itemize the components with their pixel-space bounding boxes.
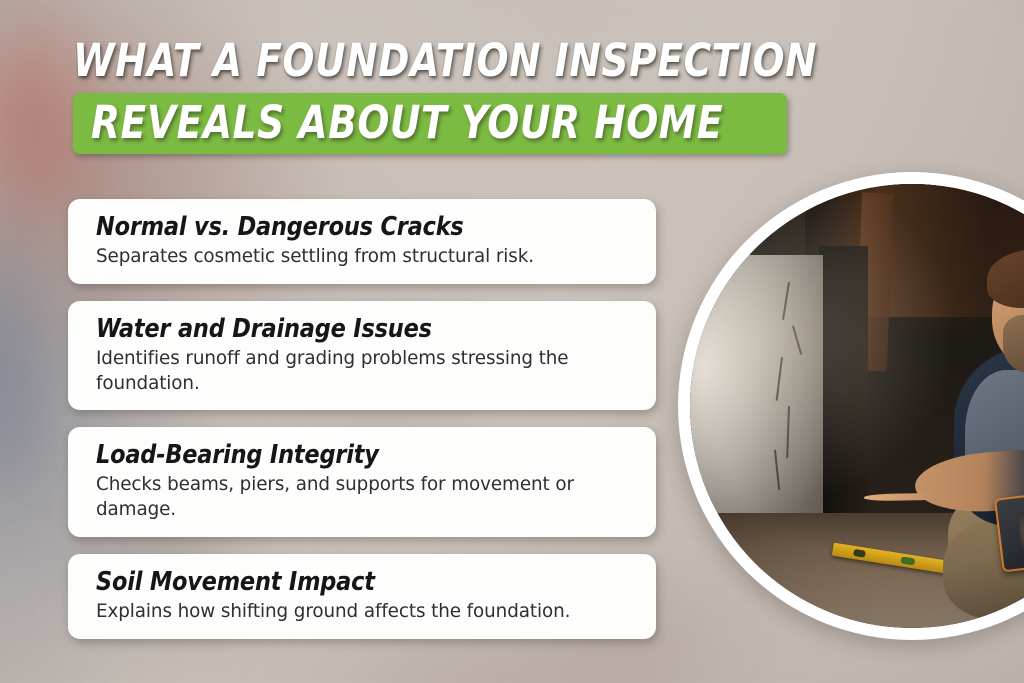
headline-line-2: REVEALS ABOUT YOUR HOME <box>91 100 723 145</box>
feature-card-body: Separates cosmetic settling from structu… <box>96 244 617 269</box>
inspector-hair <box>987 249 1024 308</box>
feature-card[interactable]: Water and Drainage Issues Identifies run… <box>68 301 656 410</box>
inspector-photo <box>690 184 1024 628</box>
feature-card-title: Load-Bearing Integrity <box>96 441 614 470</box>
headline-block: WHAT A FOUNDATION INSPECTION REVEALS ABO… <box>73 38 913 154</box>
headline-green-band: REVEALS ABOUT YOUR HOME <box>73 93 787 154</box>
inspector-figure <box>876 237 1024 628</box>
feature-card-title: Water and Drainage Issues <box>96 315 614 344</box>
feature-card-body: Checks beams, piers, and supports for mo… <box>96 472 617 521</box>
feature-card-list: Normal vs. Dangerous Cracks Separates co… <box>68 199 656 656</box>
feature-card[interactable]: Soil Movement Impact Explains how shifti… <box>68 554 656 639</box>
feature-card-body: Explains how shifting ground affects the… <box>96 599 617 624</box>
feature-card-body: Identifies runoff and grading problems s… <box>96 346 617 395</box>
feature-card[interactable]: Load-Bearing Integrity Checks beams, pie… <box>68 427 656 536</box>
inspector-photo-circle <box>678 172 1024 640</box>
headline-line-1: WHAT A FOUNDATION INSPECTION <box>73 38 854 83</box>
infographic-canvas: WHAT A FOUNDATION INSPECTION REVEALS ABO… <box>0 0 1024 683</box>
feature-card-title: Soil Movement Impact <box>96 568 614 597</box>
feature-card[interactable]: Normal vs. Dangerous Cracks Separates co… <box>68 199 656 284</box>
feature-card-title: Normal vs. Dangerous Cracks <box>96 213 614 242</box>
